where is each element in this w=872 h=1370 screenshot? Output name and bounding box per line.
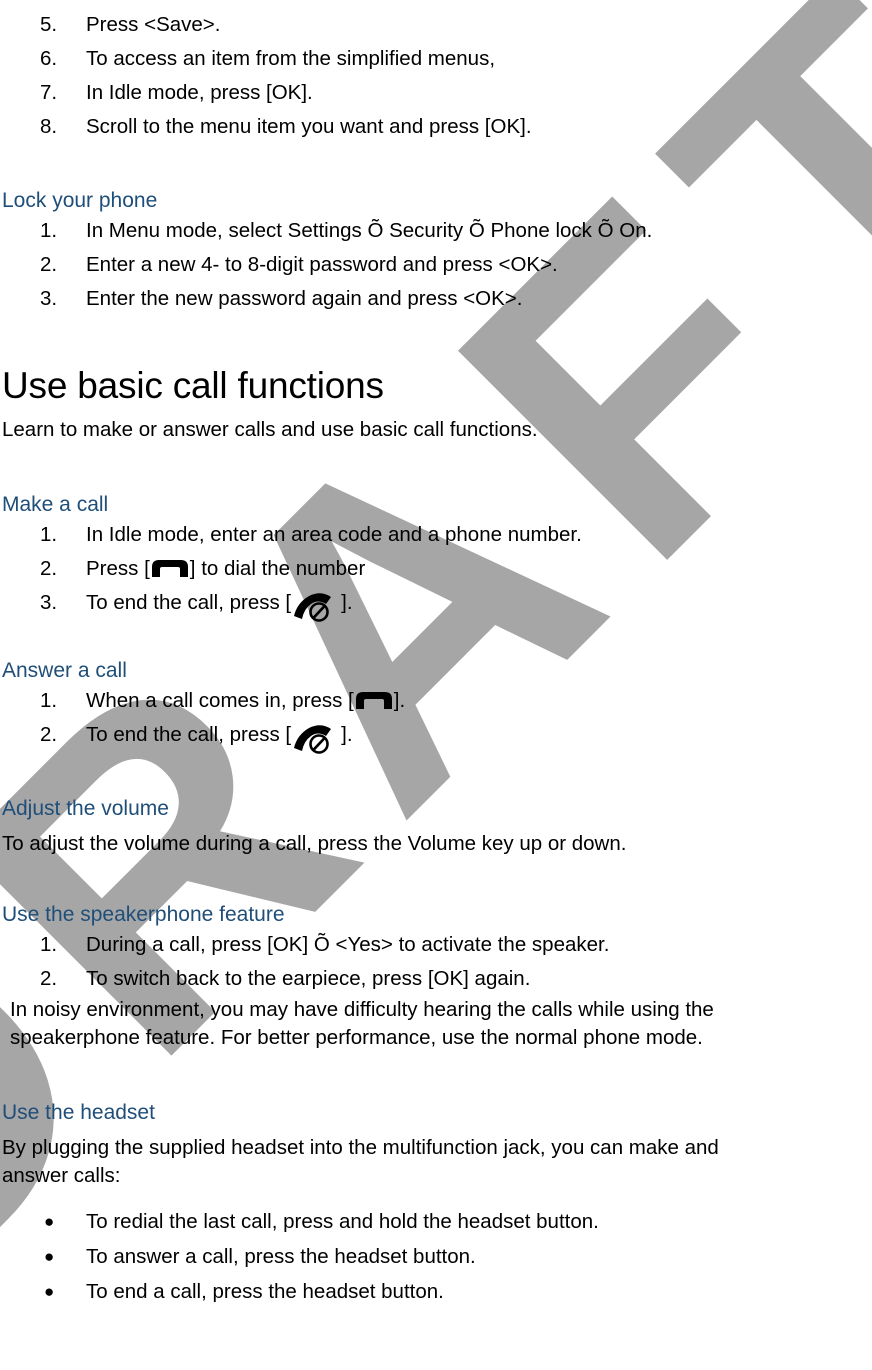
answer-a-call-steps: 1. When a call comes in, press [ ]. 2. T… — [0, 684, 872, 752]
list-item: 2. Press [ ] to dial the number — [0, 552, 872, 586]
list-item: 2. Enter a new 4- to 8-digit password an… — [0, 248, 872, 282]
list-text: In Idle mode, enter an area code and a p… — [86, 523, 582, 546]
list-text-prefix: To end the call, press [ — [86, 591, 291, 614]
end-key-icon — [291, 592, 339, 622]
list-number: 6. — [40, 42, 74, 76]
list-item: 6. To access an item from the simplified… — [0, 42, 872, 76]
list-item: 2. To switch back to the earpiece, press… — [0, 962, 872, 996]
list-text: Enter the new password again and press <… — [86, 287, 522, 310]
continued-steps-list: 5. Press <Save>. 6. To access an item fr… — [0, 8, 872, 144]
list-number: 5. — [40, 8, 74, 42]
end-key-icon — [291, 724, 339, 754]
speakerphone-note-line-2: speakerphone feature. For better perform… — [0, 1024, 872, 1052]
list-text: During a call, press [OK] Õ <Yes> to act… — [86, 933, 609, 956]
list-text: Enter a new 4- to 8-digit password and p… — [86, 253, 558, 276]
list-item: 1. In Menu mode, select Settings Õ Secur… — [0, 214, 872, 248]
list-number: 3. — [40, 282, 74, 316]
document-page: DRAFT 5. Press <Save>. 6. To access an i… — [0, 0, 872, 1370]
list-item: 2. To end the call, press [ ]. — [0, 718, 872, 752]
list-text: To switch back to the earpiece, press [O… — [86, 967, 530, 990]
send-key-icon — [150, 558, 190, 578]
list-number: 1. — [40, 214, 74, 248]
list-number: 7. — [40, 76, 74, 110]
list-number: 2. — [40, 962, 74, 996]
list-item: 3. To end the call, press [ ]. — [0, 586, 872, 620]
list-item: 5. Press <Save>. — [0, 8, 872, 42]
list-text-prefix: Press [ — [86, 557, 150, 580]
lock-your-phone-steps: 1. In Menu mode, select Settings Õ Secur… — [0, 214, 872, 316]
list-number: 2. — [40, 718, 74, 752]
list-item: 7. In Idle mode, press [OK]. — [0, 76, 872, 110]
list-text: To answer a call, press the headset butt… — [86, 1245, 476, 1268]
bullet-icon: ● — [44, 1239, 54, 1274]
adjust-the-volume-body: To adjust the volume during a call, pres… — [0, 830, 872, 858]
list-item: 3. Enter the new password again and pres… — [0, 282, 872, 316]
bullet-icon: ● — [44, 1274, 54, 1309]
speakerphone-note-line-1: In noisy environment, you may have diffi… — [0, 996, 872, 1024]
list-number: 1. — [40, 928, 74, 962]
section-heading-use-the-headset: Use the headset — [0, 1100, 872, 1126]
list-item: ● To redial the last call, press and hol… — [0, 1204, 872, 1239]
list-number: 2. — [40, 552, 74, 586]
send-key-icon — [354, 690, 394, 710]
list-text: In Menu mode, select Settings Õ Security… — [86, 219, 652, 242]
list-item: 1. In Idle mode, enter an area code and … — [0, 518, 872, 552]
list-number: 8. — [40, 110, 74, 144]
list-text-suffix: ] to dial the number — [190, 557, 366, 580]
list-text: To access an item from the simplified me… — [86, 47, 495, 70]
list-text-suffix: ]. — [394, 689, 405, 712]
page-content: 5. Press <Save>. 6. To access an item fr… — [0, 0, 872, 1309]
list-number: 1. — [40, 684, 74, 718]
section-heading-adjust-the-volume: Adjust the volume — [0, 796, 872, 822]
list-item: 8. Scroll to the menu item you want and … — [0, 110, 872, 144]
speakerphone-steps: 1. During a call, press [OK] Õ <Yes> to … — [0, 928, 872, 996]
section-heading-speakerphone: Use the speakerphone feature — [0, 902, 872, 928]
headset-bullet-list: ● To redial the last call, press and hol… — [0, 1204, 872, 1309]
headset-intro-line-2: answer calls: — [0, 1162, 872, 1190]
list-item: ● To end a call, press the headset butto… — [0, 1274, 872, 1309]
list-text-prefix: When a call comes in, press [ — [86, 689, 354, 712]
list-item: 1. When a call comes in, press [ ]. — [0, 684, 872, 718]
list-text: To end a call, press the headset button. — [86, 1280, 444, 1303]
list-item: ● To answer a call, press the headset bu… — [0, 1239, 872, 1274]
chapter-title: Use basic call functions — [0, 364, 872, 408]
headset-intro-line-1: By plugging the supplied headset into th… — [0, 1134, 872, 1162]
section-heading-make-a-call: Make a call — [0, 492, 872, 518]
list-text-suffix: ]. — [341, 591, 352, 614]
list-text: Scroll to the menu item you want and pre… — [86, 115, 532, 138]
list-text: Press <Save>. — [86, 13, 220, 36]
list-text: In Idle mode, press [OK]. — [86, 81, 313, 104]
list-text-suffix: ]. — [341, 723, 352, 746]
list-number: 3. — [40, 586, 74, 620]
list-item: 1. During a call, press [OK] Õ <Yes> to … — [0, 928, 872, 962]
list-text: To redial the last call, press and hold … — [86, 1210, 599, 1233]
list-number: 2. — [40, 248, 74, 282]
section-heading-answer-a-call: Answer a call — [0, 658, 872, 684]
list-text-prefix: To end the call, press [ — [86, 723, 291, 746]
section-heading-lock-your-phone: Lock your phone — [0, 188, 872, 214]
bullet-icon: ● — [44, 1204, 54, 1239]
list-number: 1. — [40, 518, 74, 552]
make-a-call-steps: 1. In Idle mode, enter an area code and … — [0, 518, 872, 620]
chapter-intro: Learn to make or answer calls and use ba… — [0, 416, 872, 444]
